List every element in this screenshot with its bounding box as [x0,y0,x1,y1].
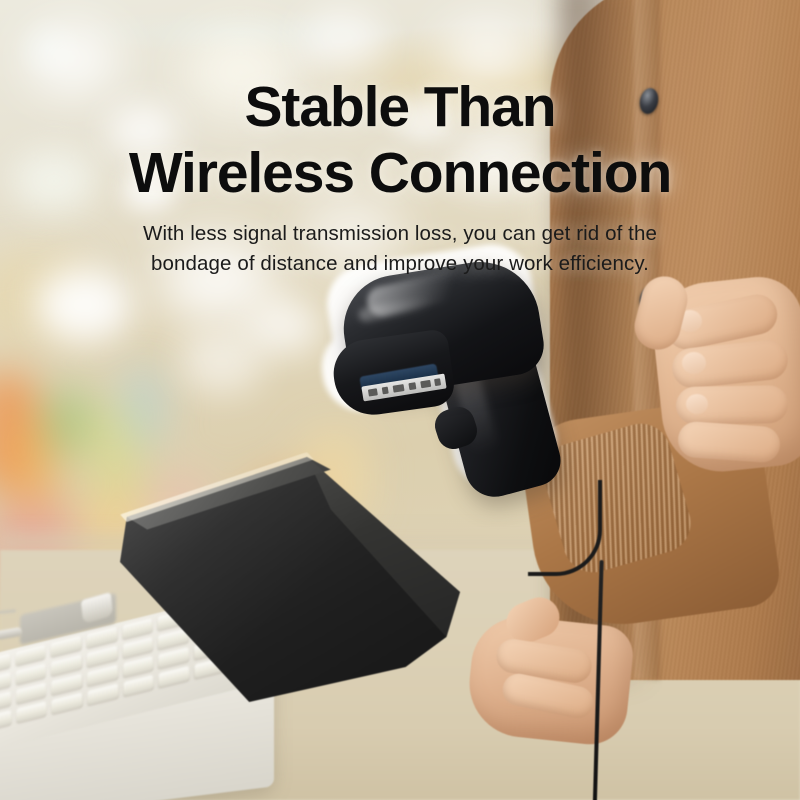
subtitle-line-2: bondage of distance and improve your wor… [0,249,800,279]
finger [677,420,781,463]
headline-line-1: Stable Than [245,75,556,139]
fingernail [686,394,708,414]
fingernail [682,352,706,374]
subtitle-line-1: With less signal transmission loss, you … [143,222,657,245]
page-subtitle: With less signal transmission loss, you … [0,219,800,279]
page-title: Stable Than Wireless Connection [0,74,800,206]
headline-line-2: Wireless Connection [0,140,800,206]
handheld-barcode-scanner [332,258,612,518]
promo-banner: Stable Than Wireless Connection With les… [0,0,800,800]
